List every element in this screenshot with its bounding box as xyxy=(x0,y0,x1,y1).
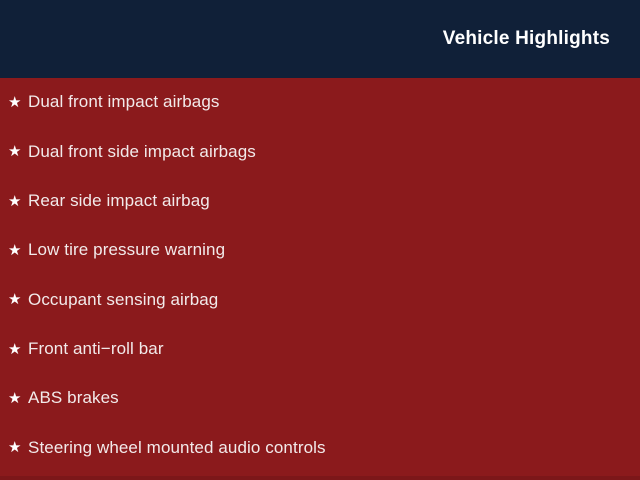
highlight-item: ★Low tire pressure warning xyxy=(0,226,640,275)
highlight-item-label: Dual front impact airbags xyxy=(28,92,219,112)
highlight-item-label: Dual front side impact airbags xyxy=(28,142,256,162)
highlight-item-label: Occupant sensing airbag xyxy=(28,290,218,310)
highlight-item: ★Dual front impact airbags xyxy=(0,78,640,127)
header-bar: Vehicle Highlights xyxy=(0,0,640,78)
star-bullet-icon: ★ xyxy=(8,342,28,357)
highlight-item-label: Rear side impact airbag xyxy=(28,191,210,211)
star-bullet-icon: ★ xyxy=(8,144,28,159)
highlight-item: ★Rear side impact airbag xyxy=(0,177,640,226)
highlight-item: ★Front anti−roll bar xyxy=(0,324,640,373)
star-bullet-icon: ★ xyxy=(8,292,28,307)
page-title: Vehicle Highlights xyxy=(443,28,610,50)
star-bullet-icon: ★ xyxy=(8,243,28,258)
highlights-list: ★Dual front impact airbags★Dual front si… xyxy=(0,78,640,472)
panel-bottom-edge xyxy=(0,476,640,480)
highlight-item-label: ABS brakes xyxy=(28,388,119,408)
highlight-item: ★Dual front side impact airbags xyxy=(0,127,640,176)
highlight-item-label: Front anti−roll bar xyxy=(28,339,164,359)
star-bullet-icon: ★ xyxy=(8,440,28,455)
highlights-panel: ★Dual front impact airbags★Dual front si… xyxy=(0,78,640,480)
vehicle-highlights-screen: Vehicle Highlights ★Dual front impact ai… xyxy=(0,0,640,480)
star-bullet-icon: ★ xyxy=(8,95,28,110)
highlight-item: ★Steering wheel mounted audio controls xyxy=(0,423,640,472)
star-bullet-icon: ★ xyxy=(8,391,28,406)
highlight-item: ★ABS brakes xyxy=(0,374,640,423)
highlight-item: ★Occupant sensing airbag xyxy=(0,275,640,324)
highlight-item-label: Steering wheel mounted audio controls xyxy=(28,438,326,458)
highlight-item-label: Low tire pressure warning xyxy=(28,240,225,260)
star-bullet-icon: ★ xyxy=(8,194,28,209)
